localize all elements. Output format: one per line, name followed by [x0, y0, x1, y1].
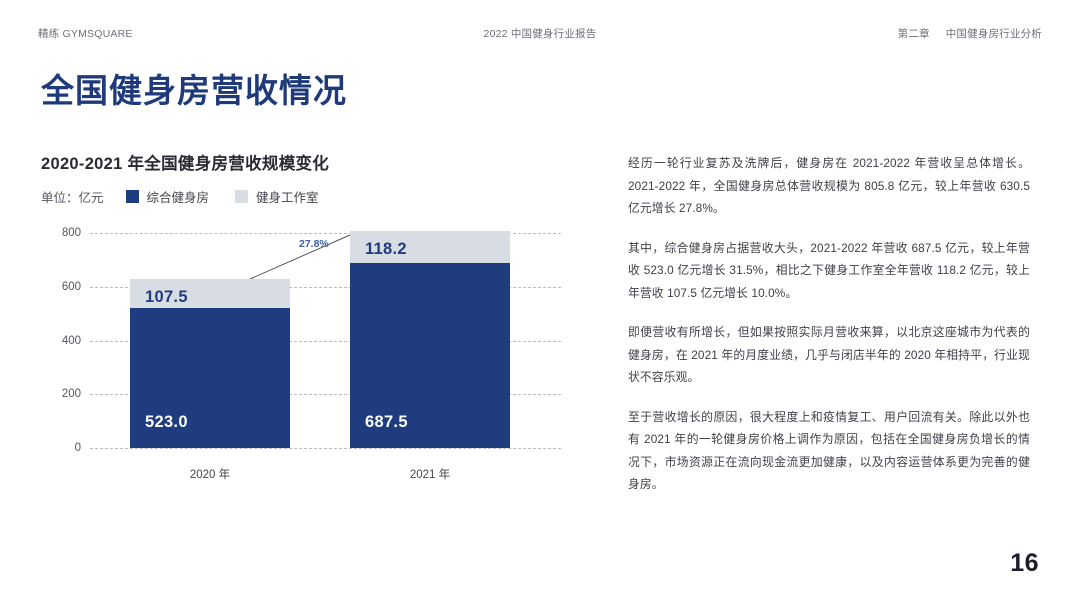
legend-swatch-gray-icon: [235, 190, 248, 203]
paragraph-3: 即便营收有所增长，但如果按照实际月营收来算，以北京这座城市为代表的健身房，在 2…: [628, 321, 1030, 389]
legend-label-comprehensive-gym: 综合健身房: [147, 187, 210, 206]
bar-2020-segment-comprehensive[interactable]: 523.0: [130, 308, 290, 449]
y-axis-tick-200: 200: [41, 388, 81, 400]
y-axis-tick-0: 0: [41, 442, 81, 454]
article-text-column: 经历一轮行业复苏及洗牌后，健身房在 2021-2022 年营收呈总体增长。202…: [628, 152, 1030, 496]
chart-legend: 单位：亿元 综合健身房 健身工作室: [41, 187, 581, 206]
page-header: 精练 GYMSQUARE 2022 中国健身行业报告 第二章中国健身房行业分析: [0, 26, 1080, 42]
y-axis-tick-400: 400: [41, 335, 81, 347]
header-section-name: 中国健身房行业分析: [946, 28, 1042, 40]
header-chapter-number: 第二章: [898, 28, 930, 40]
legend-item-comprehensive-gym: 综合健身房: [126, 187, 210, 206]
chart-unit-label: 单位：亿元: [41, 187, 104, 206]
page-number: 16: [1010, 549, 1039, 578]
bar-2020[interactable]: 107.5 523.0: [130, 233, 290, 448]
gridline-0: [90, 448, 561, 449]
paragraph-2: 其中，综合健身房占据营收大头，2021-2022 年营收 687.5 亿元，较上…: [628, 237, 1030, 305]
bar-2021-segment-studio[interactable]: 118.2: [350, 231, 510, 263]
bar-2020-comprehensive-value: 523.0: [145, 413, 188, 432]
x-axis-tick-2020: 2020 年: [130, 466, 290, 482]
x-axis-tick-2021: 2021 年: [350, 466, 510, 482]
legend-swatch-navy-icon: [126, 190, 139, 203]
bar-2021-segment-comprehensive[interactable]: 687.5: [350, 263, 510, 448]
paragraph-1: 经历一轮行业复苏及洗牌后，健身房在 2021-2022 年营收呈总体增长。202…: [628, 152, 1030, 220]
y-axis-tick-600: 600: [41, 281, 81, 293]
bar-2021[interactable]: 118.2 687.5: [350, 233, 510, 448]
chart-block: 2020-2021 年全国健身房营收规模变化 单位：亿元 综合健身房 健身工作室…: [41, 150, 581, 500]
bar-2021-studio-value: 118.2: [365, 240, 407, 259]
legend-label-studio: 健身工作室: [256, 187, 319, 206]
legend-item-studio: 健身工作室: [235, 187, 319, 206]
bar-2020-studio-value: 107.5: [145, 288, 188, 307]
chart-title: 2020-2021 年全国健身房营收规模变化: [41, 150, 581, 174]
paragraph-4: 至于营收增长的原因，很大程度上和疫情复工、用户回流有关。除此以外也有 2021 …: [628, 406, 1030, 496]
bar-2020-segment-studio[interactable]: 107.5: [130, 279, 290, 308]
y-axis-tick-800: 800: [41, 227, 81, 239]
page-title: 全国健身房营收情况: [41, 64, 347, 112]
bar-2021-comprehensive-value: 687.5: [365, 413, 408, 432]
growth-rate-label: 27.8%: [299, 238, 329, 250]
header-chapter-info: 第二章中国健身房行业分析: [898, 26, 1042, 41]
chart-plot-area: 800 600 400 200 0 27.8% 107.5 523.0 118.…: [41, 233, 581, 498]
